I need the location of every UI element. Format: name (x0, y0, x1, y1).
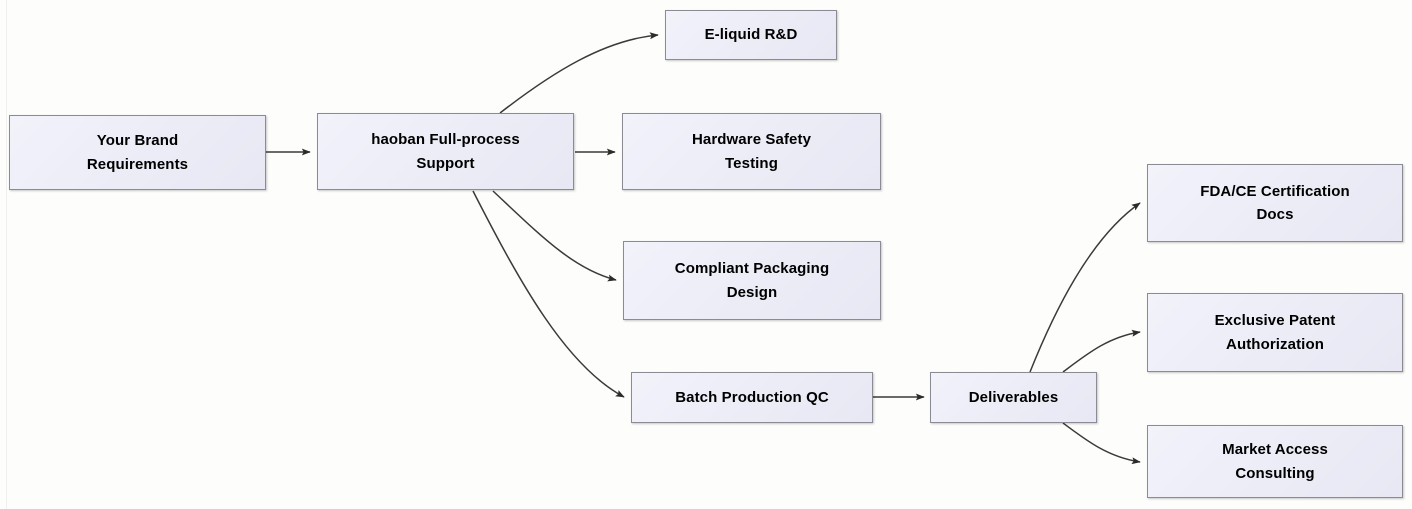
node-label-brand_requirements: Your BrandRequirements (16, 129, 259, 176)
node-label-batch_qc: Batch Production QC (638, 386, 866, 409)
node-hardware_testing[interactable]: Hardware SafetyTesting (622, 113, 881, 190)
flowchart-canvas: Your BrandRequirementshaoban Full-proces… (0, 0, 1412, 509)
edge-haoban-to-packaging (493, 191, 616, 280)
node-haoban_support[interactable]: haoban Full-processSupport (317, 113, 574, 190)
node-batch_qc[interactable]: Batch Production QC (631, 372, 873, 423)
node-label-market_access: Market AccessConsulting (1154, 438, 1396, 485)
node-exclusive_patent[interactable]: Exclusive PatentAuthorization (1147, 293, 1403, 372)
edge-deliverables-to-fda (1030, 203, 1140, 372)
left-edge-rule (6, 0, 7, 509)
edge-haoban-to-eliquid (500, 35, 658, 113)
node-packaging_design[interactable]: Compliant PackagingDesign (623, 241, 881, 320)
node-label-exclusive_patent: Exclusive PatentAuthorization (1154, 309, 1396, 356)
node-label-packaging_design: Compliant PackagingDesign (630, 257, 874, 304)
node-label-hardware_testing: Hardware SafetyTesting (629, 128, 874, 175)
node-eliquid_rd[interactable]: E-liquid R&D (665, 10, 837, 60)
node-fda_ce_docs[interactable]: FDA/CE CertificationDocs (1147, 164, 1403, 242)
edge-deliverables-to-market (1063, 423, 1140, 462)
node-brand_requirements[interactable]: Your BrandRequirements (9, 115, 266, 190)
edge-deliverables-to-patent (1063, 332, 1140, 372)
node-label-haoban_support: haoban Full-processSupport (324, 128, 567, 175)
node-label-deliverables: Deliverables (937, 386, 1090, 409)
edge-haoban-to-batch (473, 191, 624, 397)
node-deliverables[interactable]: Deliverables (930, 372, 1097, 423)
node-market_access[interactable]: Market AccessConsulting (1147, 425, 1403, 498)
node-label-eliquid_rd: E-liquid R&D (672, 23, 830, 46)
node-label-fda_ce_docs: FDA/CE CertificationDocs (1154, 180, 1396, 227)
